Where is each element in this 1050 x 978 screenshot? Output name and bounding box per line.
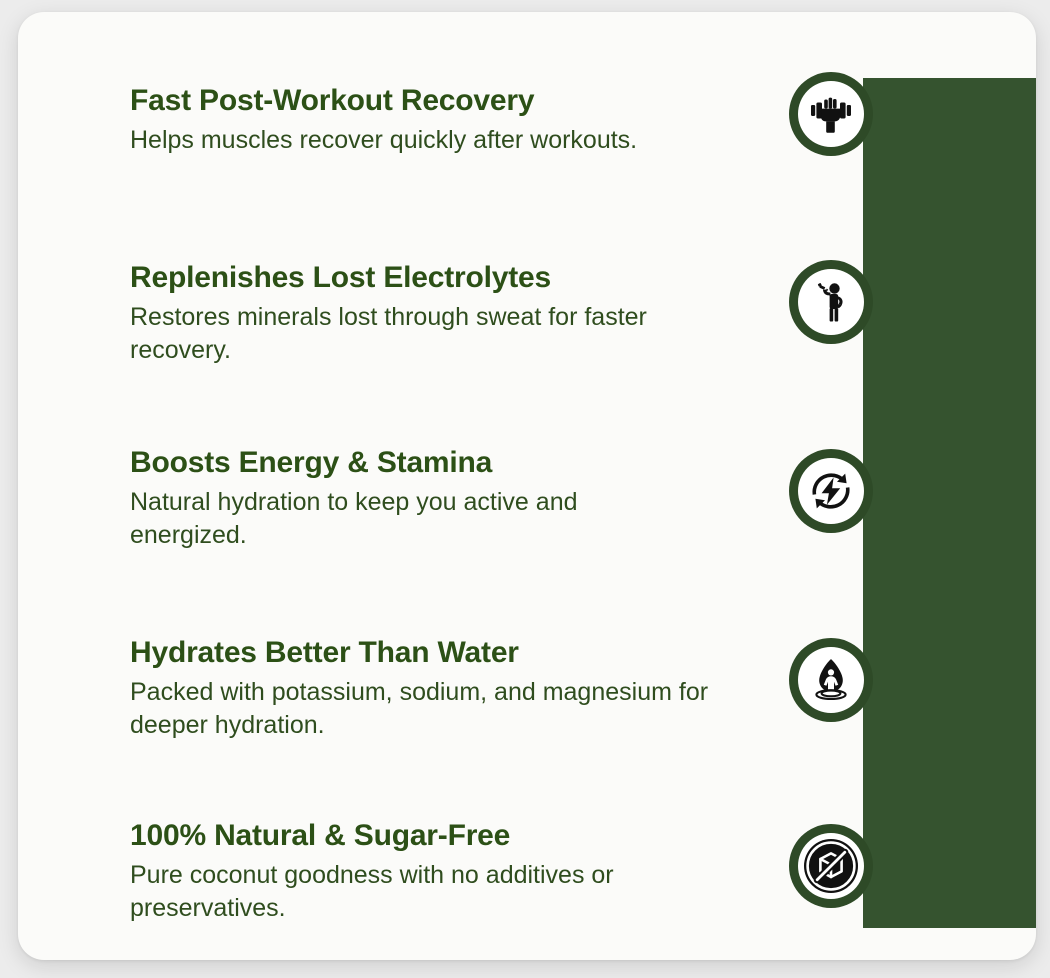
- badge-100-natural-sugar-free: [789, 824, 873, 908]
- no-additives-cube-icon: [801, 836, 861, 896]
- feature-item-hydrates-better-than-water: Hydrates Better Than Water Packed with p…: [130, 636, 830, 743]
- water-drop-person-icon: [807, 656, 855, 704]
- lightning-refresh-icon: [807, 467, 855, 515]
- badge-fast-post-workout-recovery: [789, 72, 873, 156]
- feature-title: Hydrates Better Than Water: [130, 636, 830, 670]
- feature-title: Replenishes Lost Electrolytes: [130, 261, 830, 295]
- badge-inner-circle: [798, 269, 864, 335]
- feature-description: Packed with potassium, sodium, and magne…: [130, 676, 775, 743]
- badge-boosts-energy-stamina: [789, 449, 873, 533]
- feature-item-replenishes-lost-electrolytes: Replenishes Lost Electrolytes Restores m…: [130, 261, 830, 368]
- feature-title: 100% Natural & Sugar-Free: [130, 819, 830, 853]
- badge-inner-circle: [798, 458, 864, 524]
- person-drinking-icon: [808, 279, 854, 325]
- feature-description: Pure coconut goodness with no additives …: [130, 859, 710, 926]
- badge-hydrates-better-than-water: [789, 638, 873, 722]
- green-accent-panel: [863, 78, 1036, 928]
- badge-inner-circle: [798, 81, 864, 147]
- feature-description: Helps muscles recover quickly after work…: [130, 124, 770, 158]
- feature-description: Restores minerals lost through sweat for…: [130, 301, 660, 368]
- badge-inner-circle: [798, 833, 864, 899]
- feature-item-boosts-energy-stamina: Boosts Energy & Stamina Natural hydratio…: [130, 446, 830, 553]
- feature-title: Boosts Energy & Stamina: [130, 446, 830, 480]
- feature-description: Natural hydration to keep you active and…: [130, 486, 685, 553]
- feature-title: Fast Post-Workout Recovery: [130, 84, 830, 118]
- benefits-card: Fast Post-Workout Recovery Helps muscles…: [18, 12, 1036, 960]
- badge-replenishes-lost-electrolytes: [789, 260, 873, 344]
- fist-dumbbell-icon: [808, 91, 854, 137]
- feature-item-100-natural-sugar-free: 100% Natural & Sugar-Free Pure coconut g…: [130, 819, 830, 926]
- badge-inner-circle: [798, 647, 864, 713]
- screenshot-stage: Fast Post-Workout Recovery Helps muscles…: [0, 0, 1050, 978]
- feature-item-fast-post-workout-recovery: Fast Post-Workout Recovery Helps muscles…: [130, 84, 830, 157]
